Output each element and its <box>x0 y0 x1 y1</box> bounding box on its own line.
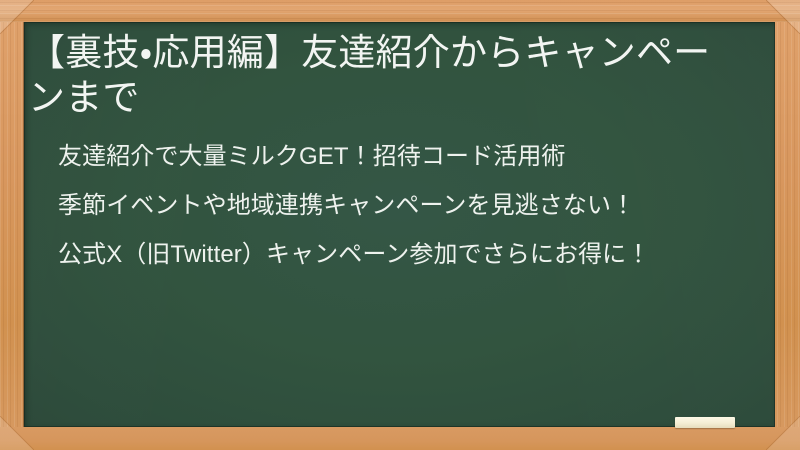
list-item: 季節イベントや地域連携キャンペーンを見逃さない！ <box>58 189 731 222</box>
list-item: 公式X（旧Twitter）キャンペーン参加でさらにお得に！ <box>58 238 731 271</box>
chalkboard-surface: 【裏技・応用編】友達紹介からキャンペーンまで 友達紹介で大量ミルクGET！招待コ… <box>24 22 775 427</box>
chalk-stick-icon <box>675 417 735 428</box>
board-content: 【裏技・応用編】友達紹介からキャンペーンまで 友達紹介で大量ミルクGET！招待コ… <box>24 22 775 427</box>
frame-top-rail <box>0 0 800 22</box>
slide-title: 【裏技・応用編】友達紹介からキャンペーンまで <box>28 30 761 120</box>
chalkboard-slide: 【裏技・応用編】友達紹介からキャンペーンまで 友達紹介で大量ミルクGET！招待コ… <box>0 0 800 450</box>
bullet-list: 友達紹介で大量ミルクGET！招待コード活用術 季節イベントや地域連携キャンペーン… <box>28 140 761 271</box>
list-item: 友達紹介で大量ミルクGET！招待コード活用術 <box>58 140 731 173</box>
frame-bottom-ledge <box>0 427 800 450</box>
